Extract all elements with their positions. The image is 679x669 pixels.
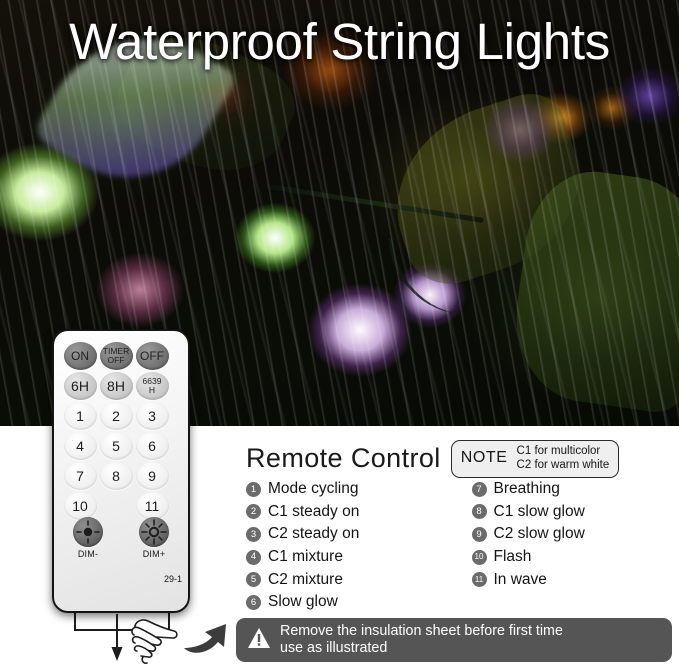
mode-list-right: 7 Breathing 8 C1 slow glow 9 C2 slow glo… — [472, 478, 672, 614]
mode-label: Mode cycling — [268, 480, 358, 498]
hours-label-line2: H — [149, 386, 155, 395]
dim-minus-label: DIM- — [78, 549, 98, 559]
remote-button-6[interactable]: 6 — [136, 432, 169, 460]
list-item: 5 C2 mixture — [246, 568, 446, 591]
mode-number-badge: 2 — [246, 504, 261, 519]
mode-number-badge: 11 — [472, 572, 487, 587]
remote-button-6639h[interactable]: 6639 H — [136, 372, 169, 400]
dimmer-row: DIM- DIM+ — [62, 517, 180, 559]
mode-number-badge: 5 — [246, 572, 261, 587]
list-item: 10 Flash — [472, 546, 672, 569]
mode-number-badge: 4 — [246, 550, 261, 565]
remote-button-5[interactable]: 5 — [100, 432, 133, 460]
mode-number-badge: 3 — [246, 527, 261, 542]
remote-button-4[interactable]: 4 — [64, 432, 97, 460]
hand-illustration-icon — [126, 613, 182, 669]
mode-number-badge: 1 — [246, 482, 261, 497]
section-title: Remote Control — [246, 443, 441, 474]
remote-button-timer-off[interactable]: TIMER OFF — [100, 342, 133, 370]
dim-plus-label: DIM+ — [143, 549, 166, 559]
dim-plus-cell[interactable]: DIM+ — [128, 517, 180, 559]
mode-number-badge: 10 — [472, 550, 487, 565]
remote-button-off[interactable]: OFF — [136, 342, 169, 370]
note-content: C1 for multicolor C2 for warm white — [517, 444, 610, 473]
remote-button-8h[interactable]: 8H — [100, 372, 133, 400]
list-item: 6 Slow glow — [246, 591, 446, 614]
remote-button-spacer — [100, 492, 133, 520]
mode-label: C2 mixture — [268, 571, 343, 589]
remote-button-9[interactable]: 9 — [136, 462, 169, 490]
mode-label: Flash — [494, 548, 532, 566]
mode-list-columns: 1 Mode cycling 2 C1 steady on 3 C2 stead… — [246, 478, 671, 614]
list-item: 8 C1 slow glow — [472, 501, 672, 524]
list-item: 1 Mode cycling — [246, 478, 446, 501]
remote-button-3[interactable]: 3 — [136, 402, 169, 430]
remote-button-8[interactable]: 8 — [100, 462, 133, 490]
warning-line-1: Remove the insulation sheet before first… — [280, 623, 563, 640]
timer-label-line2: OFF — [108, 356, 125, 365]
mode-label: C1 mixture — [268, 548, 343, 566]
remote-button-11[interactable]: 11 — [136, 492, 169, 520]
list-item: 3 C2 steady on — [246, 523, 446, 546]
mode-label: Slow glow — [268, 593, 338, 611]
mode-label: C1 steady on — [268, 503, 359, 521]
curved-arrow-icon — [182, 618, 234, 663]
warning-line-2: use as illustrated — [280, 640, 563, 657]
mode-label: C2 slow glow — [494, 525, 585, 543]
dim-plus-icon[interactable] — [139, 517, 169, 547]
remote-button-7[interactable]: 7 — [64, 462, 97, 490]
note-box: NOTE C1 for multicolor C2 for warm white — [451, 440, 620, 478]
list-item: 9 C2 slow glow — [472, 523, 672, 546]
dim-minus-cell[interactable]: DIM- — [62, 517, 114, 559]
mode-number-badge: 9 — [472, 527, 487, 542]
list-item: 11 In wave — [472, 568, 672, 591]
product-infographic: Waterproof String Lights ON — [0, 0, 679, 669]
mode-label: Breathing — [494, 480, 560, 498]
remote-model-code: 29-1 — [164, 574, 182, 584]
remote-control-heading-row: Remote Control NOTE C1 for multicolor C2… — [246, 440, 619, 478]
remote-button-2[interactable]: 2 — [100, 402, 133, 430]
mode-number-badge: 8 — [472, 504, 487, 519]
note-tag-label: NOTE — [461, 449, 508, 467]
remote-button-10[interactable]: 10 — [64, 492, 97, 520]
remote-button-1[interactable]: 1 — [64, 402, 97, 430]
mode-label: C1 slow glow — [494, 503, 585, 521]
mode-number-badge: 6 — [246, 595, 261, 610]
dim-minus-icon[interactable] — [73, 517, 103, 547]
remote-button-on[interactable]: ON — [64, 342, 97, 370]
warning-triangle-icon — [247, 627, 271, 654]
warning-message: Remove the insulation sheet before first… — [280, 623, 563, 658]
list-item: 2 C1 steady on — [246, 501, 446, 524]
note-line-1: C1 for multicolor — [517, 444, 610, 458]
remote-button-6h[interactable]: 6H — [64, 372, 97, 400]
list-item: 4 C1 mixture — [246, 546, 446, 569]
mode-label: C2 steady on — [268, 525, 359, 543]
page-title: Waterproof String Lights — [0, 16, 679, 67]
list-item: 7 Breathing — [472, 478, 672, 501]
note-line-2: C2 for warm white — [517, 458, 610, 472]
remote-button-grid: ON TIMER OFF OFF 6H 8H 6639 H 1 2 3 4 5 … — [62, 341, 180, 521]
warning-banner: Remove the insulation sheet before first… — [236, 618, 672, 662]
mode-number-badge: 7 — [472, 482, 487, 497]
mode-list-left: 1 Mode cycling 2 C1 steady on 3 C2 stead… — [246, 478, 446, 614]
mode-label: In wave — [494, 571, 547, 589]
down-arrow-icon — [110, 614, 124, 667]
remote-control-device[interactable]: ON TIMER OFF OFF 6H 8H 6639 H 1 2 3 4 5 … — [52, 329, 190, 613]
